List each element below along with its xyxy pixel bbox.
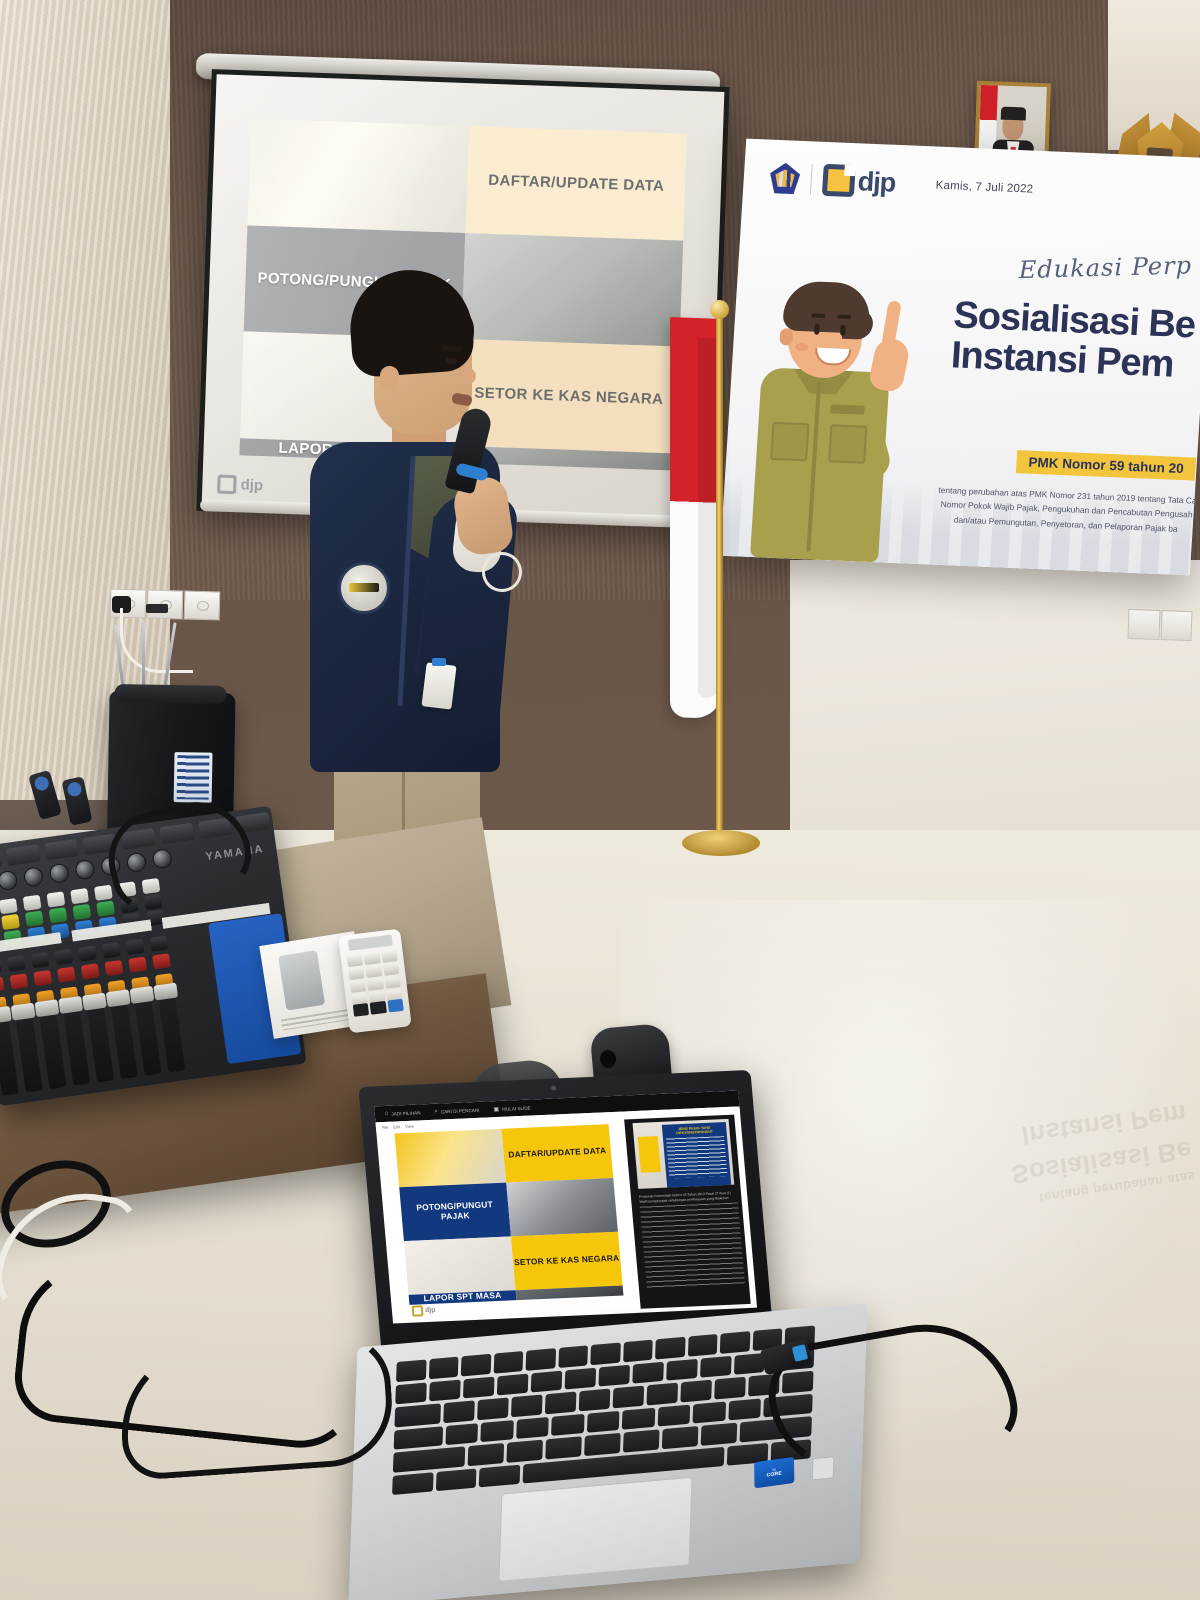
key-s[interactable] — [481, 1420, 514, 1442]
djp-logo-text: djp — [425, 1307, 436, 1314]
key[interactable] — [598, 1364, 630, 1386]
character-pocket — [770, 422, 809, 461]
remote-key[interactable] — [381, 950, 397, 963]
key-b[interactable] — [623, 1429, 660, 1452]
mixer-knob-gain[interactable] — [70, 888, 89, 904]
key-y[interactable] — [613, 1386, 645, 1408]
toolbar-item-present[interactable]: ▣ MULAI SLIDE — [493, 1104, 531, 1113]
djp-mark-icon — [822, 164, 856, 197]
key-w[interactable] — [478, 1397, 510, 1419]
router-antenna — [142, 620, 145, 694]
character-pocket — [828, 424, 867, 463]
toolbar-label-present: MULAI SLIDE — [502, 1105, 531, 1111]
kemenkeu-logo-icon — [769, 162, 801, 194]
key[interactable] — [531, 1370, 563, 1392]
key-shift[interactable] — [393, 1446, 465, 1472]
remote-key[interactable] — [349, 967, 365, 980]
key[interactable] — [688, 1334, 718, 1356]
mixer-xlr-jack[interactable] — [23, 866, 44, 887]
remote-key[interactable] — [367, 978, 383, 991]
laptop-slide-label-setor-kas: SETOR KE KAS NEGARA — [514, 1254, 620, 1268]
flag-pole-finial — [710, 300, 729, 319]
key-t[interactable] — [579, 1389, 611, 1411]
remote-key[interactable] — [350, 980, 366, 993]
key-q[interactable] — [444, 1400, 476, 1422]
laptop-trackpad[interactable] — [498, 1477, 692, 1582]
mixer-xlr-jack[interactable] — [74, 859, 95, 880]
laptop-slide-cell-setor-kas: SETOR KE KAS NEGARA — [511, 1232, 623, 1290]
present-icon: ▣ — [493, 1105, 499, 1112]
thumbnail-content-block: JENIS PAJAK YANG DIPOTONG/DIPUNGUT — [662, 1122, 732, 1189]
toolbar-label-home: JADI PILIHAN — [391, 1110, 421, 1116]
logo-divider — [810, 164, 813, 194]
key-a[interactable] — [445, 1423, 478, 1445]
key-ctrl[interactable] — [392, 1472, 433, 1495]
key-i[interactable] — [680, 1380, 712, 1402]
laptop[interactable]: ⌂ JADI PILIHAN ⌕ CARI DI PENCARI ▣ MULAI… — [352, 1078, 892, 1598]
search-icon: ⌕ — [434, 1108, 438, 1115]
speaker-top-plate — [114, 684, 226, 704]
wall-socket-panel-right — [1127, 609, 1192, 641]
key-d[interactable] — [516, 1416, 549, 1438]
key-m[interactable] — [701, 1423, 738, 1446]
laptop-slide-cell-photo — [404, 1236, 516, 1294]
laptop-screen[interactable]: ⌂ JADI PILIHAN ⌕ CARI DI PENCARI ▣ MULAI… — [374, 1090, 757, 1323]
mixer-xlr-jack[interactable] — [0, 870, 18, 891]
intel-core-sticker: hp CORE — [754, 1457, 794, 1489]
mixer-knob-gain[interactable] — [23, 895, 42, 911]
remote-key[interactable] — [347, 954, 363, 967]
mixer-knob-high[interactable] — [49, 907, 68, 923]
key[interactable] — [497, 1373, 529, 1395]
character-eyebrow — [811, 313, 825, 318]
remote-key[interactable] — [384, 976, 400, 989]
portrait-peci-cap — [1001, 106, 1027, 120]
key[interactable] — [429, 1379, 461, 1401]
banner-title: Sosialisasi Be Instansi Pem — [950, 295, 1200, 389]
mixer-knob-high[interactable] — [25, 911, 44, 927]
character-name-badge — [830, 404, 865, 414]
laptop-slide-cell-photo — [506, 1178, 618, 1236]
event-banner: djp Kamis, 7 Juli 2022 Edukasi Perp Sosi… — [720, 139, 1200, 576]
presenter-shoulder-patch — [338, 562, 390, 614]
remote-power-key[interactable] — [387, 998, 404, 1012]
key-tab[interactable] — [394, 1403, 441, 1427]
mixer-knob-high[interactable] — [72, 904, 91, 920]
key[interactable] — [720, 1331, 750, 1353]
key-fn[interactable] — [435, 1468, 476, 1491]
mixer-knob-low[interactable] — [78, 945, 97, 961]
product-box-image — [278, 950, 324, 1010]
mixer-knob-aux[interactable] — [105, 960, 124, 976]
djp-logo: djp — [822, 164, 896, 199]
key[interactable] — [590, 1342, 620, 1364]
mixer-knob[interactable] — [6, 844, 41, 865]
submenu-view[interactable]: View — [405, 1123, 414, 1128]
key-v[interactable] — [584, 1433, 621, 1456]
laptop-slide-cell-daftar-update: DAFTAR/UPDATE DATA — [502, 1124, 614, 1182]
webcam-lens-icon — [599, 1049, 617, 1068]
key[interactable] — [564, 1367, 596, 1389]
key-x[interactable] — [506, 1440, 543, 1463]
character-eye — [840, 325, 846, 336]
laptop-slide-cell-potong-pungut: POTONG/PUNGUT PAJAK — [399, 1183, 511, 1241]
mixer-knob-low[interactable] — [31, 952, 50, 968]
key-c[interactable] — [545, 1436, 582, 1459]
key[interactable] — [700, 1355, 732, 1377]
laptop-webcam-icon — [551, 1085, 556, 1090]
banner-character-illustration — [742, 271, 940, 564]
key[interactable] — [666, 1358, 698, 1380]
presenter-id-badge — [421, 662, 456, 709]
mixer-knob-low[interactable] — [126, 939, 145, 955]
laptop-slide-canvas[interactable]: DAFTAR/UPDATE DATA POTONG/PUNGUT PAJAK S… — [395, 1124, 624, 1305]
thumbnail-body-lines — [666, 1136, 727, 1178]
laptop-slide-cell-photo — [395, 1129, 507, 1187]
laptop-speaker-notes[interactable]: Peraturan Pemerintah Nomor 45 Tahun 2013… — [639, 1191, 746, 1301]
key[interactable] — [463, 1376, 495, 1398]
thumbnail-title: JENIS PAJAK YANG DIPOTONG/DIPUNGUT — [665, 1125, 724, 1136]
remote-keypad[interactable] — [347, 950, 402, 1007]
laptop-slide-label-lapor-spt: LAPOR SPT MASA — [423, 1291, 502, 1304]
remote-key[interactable] — [383, 963, 399, 976]
mixer-master-fader[interactable] — [156, 983, 185, 1073]
toolbar-label-search: CARI DI PENCARI — [441, 1107, 480, 1114]
remote-function-key[interactable] — [353, 1003, 370, 1017]
intel-sticker-line1: CORE — [767, 1471, 782, 1479]
mixer-knob-low[interactable] — [55, 949, 74, 965]
character-eye — [814, 324, 820, 335]
djp-logo-text: djp — [857, 166, 896, 199]
mixer-knob-gain[interactable] — [94, 885, 113, 901]
key-z[interactable] — [468, 1443, 505, 1466]
key-windows[interactable] — [479, 1464, 520, 1487]
banner-script-heading: Edukasi Perp — [1019, 251, 1192, 284]
mixer-xlr-jack[interactable] — [49, 863, 70, 884]
djp-mark-icon — [412, 1305, 424, 1316]
wall-socket — [1160, 610, 1193, 641]
toolbar-item-search[interactable]: ⌕ CARI DI PENCARI — [434, 1106, 480, 1115]
key[interactable] — [396, 1359, 426, 1381]
mixer-knob-low[interactable] — [7, 955, 26, 971]
presenter-badge-clip — [432, 658, 446, 666]
indonesian-flag — [670, 300, 736, 770]
submenu-file[interactable]: File — [382, 1124, 389, 1129]
presenter-ear — [380, 366, 399, 391]
seminar-room-photo: Instansi Pem Sosialisasi Be tentang peru… — [0, 0, 1200, 1600]
laptop-slide-label-daftar-update: DAFTAR/UPDATE DATA — [508, 1146, 607, 1160]
flag-pole-base — [682, 830, 760, 856]
flag-pole — [716, 308, 723, 842]
key-g[interactable] — [587, 1410, 620, 1432]
banner-date: Kamis, 7 Juli 2022 — [935, 180, 1033, 196]
mixer-knob-aux[interactable] — [57, 967, 76, 983]
remote-key[interactable] — [364, 952, 380, 965]
key[interactable] — [655, 1337, 685, 1359]
mixer-knob-aux[interactable] — [0, 977, 5, 993]
laptop-notes-panel[interactable]: JENIS PAJAK YANG DIPOTONG/DIPUNGUT Perat… — [624, 1115, 751, 1309]
mixer-knob-low[interactable] — [0, 959, 2, 975]
mixer-knob-aux[interactable] — [128, 957, 147, 973]
presenter-eye — [446, 357, 458, 364]
presenter-nose — [462, 368, 476, 384]
key-r[interactable] — [545, 1391, 577, 1413]
banner-logo-row: djp — [769, 162, 896, 199]
laptop-slide-label-potong-pungut: POTONG/PUNGUT PAJAK — [401, 1200, 510, 1224]
character-eyebrow — [837, 315, 851, 320]
key-h[interactable] — [622, 1407, 655, 1429]
character-hair — [782, 280, 871, 334]
mixer-knob-aux[interactable] — [10, 973, 29, 989]
remote-key[interactable] — [366, 965, 382, 978]
mixer-knob-low[interactable] — [150, 935, 169, 951]
key-j[interactable] — [657, 1404, 690, 1426]
mixer-knob[interactable] — [44, 839, 79, 860]
key-n[interactable] — [662, 1426, 699, 1449]
wall-panel-left — [0, 0, 178, 800]
mixer-knob-aux[interactable] — [33, 970, 52, 986]
key-capslock[interactable] — [394, 1426, 443, 1450]
home-icon: ⌂ — [385, 1111, 389, 1117]
key-u[interactable] — [647, 1383, 679, 1405]
remote-function-key[interactable] — [370, 1001, 387, 1015]
key-o[interactable] — [714, 1377, 746, 1399]
mixer-knob[interactable] — [0, 850, 2, 871]
mixer-knob-high[interactable] — [96, 901, 115, 917]
key[interactable] — [526, 1348, 556, 1370]
key[interactable] — [632, 1361, 664, 1383]
speaker-notes-lines — [640, 1203, 745, 1291]
key-k[interactable] — [693, 1401, 726, 1423]
key[interactable] — [623, 1340, 653, 1362]
wall-socket — [1127, 609, 1160, 640]
key-l[interactable] — [728, 1398, 761, 1420]
laptop-keyboard[interactable] — [392, 1325, 815, 1495]
thumbnail-accent-block — [638, 1136, 661, 1173]
mixer-knob-gain[interactable] — [46, 891, 65, 907]
mixer-knob-gain[interactable] — [0, 898, 18, 914]
mixer-knob-high[interactable] — [1, 914, 20, 930]
key-e[interactable] — [511, 1394, 543, 1416]
toolbar-item-home[interactable]: ⌂ JADI PILIHAN — [385, 1109, 421, 1117]
key[interactable] — [461, 1354, 491, 1376]
key[interactable] — [558, 1345, 588, 1367]
mixer-knob-aux[interactable] — [152, 953, 171, 969]
banner-title-line-2: Instansi Pem — [950, 336, 1200, 390]
mixer-knob-aux[interactable] — [81, 963, 100, 979]
key-f[interactable] — [551, 1413, 584, 1435]
key[interactable] — [395, 1382, 427, 1404]
mixer-knob-low[interactable] — [102, 942, 121, 958]
speaker-spec-label — [174, 752, 213, 803]
submenu-edit[interactable]: Edit — [393, 1124, 400, 1129]
key[interactable] — [428, 1357, 458, 1379]
remote-display — [347, 935, 393, 951]
remote-control[interactable] — [338, 929, 411, 1034]
laptop-slide-djp-logo: djp — [412, 1305, 436, 1317]
key[interactable] — [493, 1351, 523, 1373]
laptop-slide-thumbnail[interactable]: JENIS PAJAK YANG DIPOTONG/DIPUNGUT — [633, 1119, 735, 1189]
laptop-lid: ⌂ JADI PILIHAN ⌕ CARI DI PENCARI ▣ MULAI… — [358, 1070, 773, 1354]
